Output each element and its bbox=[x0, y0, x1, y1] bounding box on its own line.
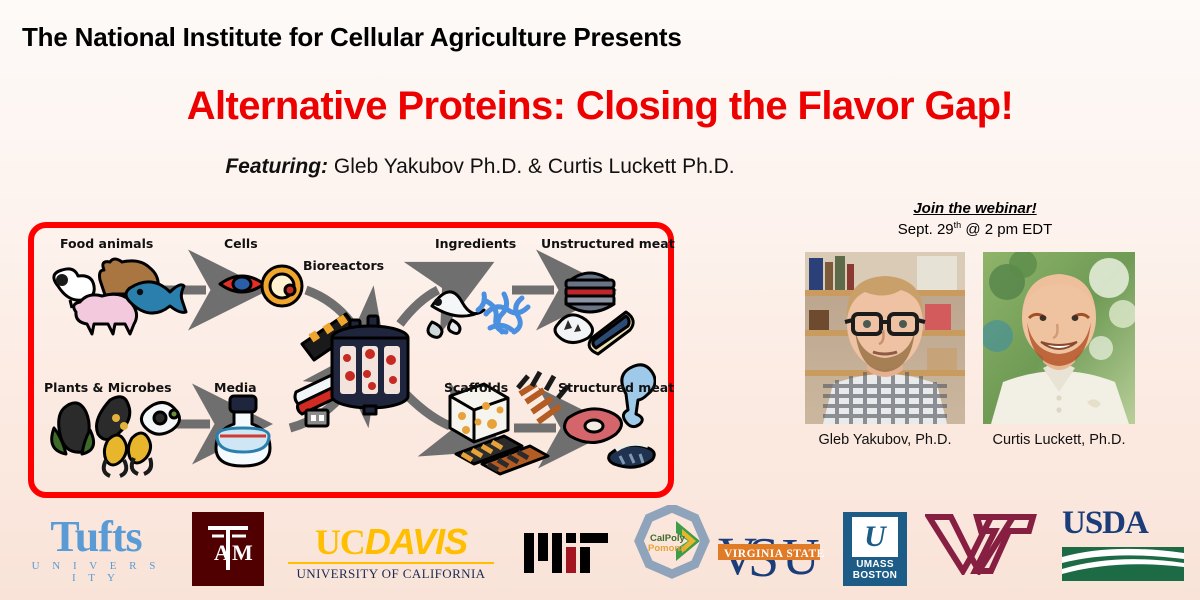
logo-virginia-state: V S U VIRGINIA STATE bbox=[716, 522, 826, 582]
logo-texas-am: A M bbox=[192, 512, 264, 586]
logo-tufts: Tufts U N I V E R S I T Y bbox=[26, 516, 166, 584]
logo-tufts-subtext: U N I V E R S I T Y bbox=[26, 560, 166, 584]
logo-uc-text: UC bbox=[315, 522, 365, 562]
avatar bbox=[805, 252, 965, 424]
svg-text:A: A bbox=[214, 540, 230, 565]
page-title: Alternative Proteins: Closing the Flavor… bbox=[0, 84, 1200, 129]
logo-virginia-tech bbox=[925, 513, 1037, 580]
texas-am-icon: A M bbox=[200, 520, 256, 578]
logo-tufts-wordmark: Tufts bbox=[26, 516, 166, 558]
logo-uc-davis-wordmark: UCDAVIS bbox=[288, 524, 494, 560]
avatar bbox=[983, 252, 1135, 424]
umass-line1: UMASS bbox=[856, 559, 894, 570]
webinar-poster: The National Institute for Cellular Agri… bbox=[0, 0, 1200, 600]
webinar-date: Sept. 29 bbox=[898, 221, 954, 238]
usda-field-icon bbox=[1062, 541, 1184, 581]
diagram-label-food-animals: Food animals bbox=[60, 236, 153, 251]
logo-uc-davis: UCDAVIS UNIVERSITY OF CALIFORNIA bbox=[288, 524, 494, 582]
webinar-datetime: Sept. 29th @ 2 pm EDT bbox=[810, 220, 1140, 238]
speaker-card-2: Curtis Luckett, Ph.D. bbox=[983, 252, 1135, 448]
webinar-info: Join the webinar! Sept. 29th @ 2 pm EDT bbox=[810, 200, 1140, 238]
protein-icon bbox=[478, 294, 528, 332]
diagram-label-unstructured-meat: Unstructured meat bbox=[541, 236, 675, 251]
logo-usda-wordmark: USDA bbox=[1062, 507, 1184, 540]
sponsor-logo-bar: Tufts U N I V E R S I T Y A M UCDAVIS UN… bbox=[0, 500, 1200, 600]
umass-line2: BOSTON bbox=[853, 570, 897, 581]
cellular-agriculture-diagram: Food animals Cells Bioreactors Ingredien… bbox=[28, 222, 674, 498]
umass-boston-mark-icon: U bbox=[852, 517, 898, 557]
svg-text:VIRGINIA STATE: VIRGINIA STATE bbox=[724, 548, 825, 560]
cal-poly-pomona-icon: CalPoly Pomona bbox=[632, 505, 712, 581]
logo-usda: USDA bbox=[1062, 507, 1184, 586]
logo-umass-boston: U UMASSBOSTON bbox=[843, 512, 907, 586]
join-webinar-label[interactable]: Join the webinar! bbox=[810, 200, 1140, 217]
diagram-label-cells: Cells bbox=[224, 236, 258, 251]
logo-uc-davis-rule bbox=[288, 562, 494, 564]
featuring-line: Featuring: Gleb Yakubov Ph.D. & Curtis L… bbox=[0, 155, 1200, 179]
featuring-label: Featuring: bbox=[225, 155, 328, 178]
diagram-label-ingredients: Ingredients bbox=[435, 236, 516, 251]
headshot-gleb-yakubov-icon bbox=[805, 252, 965, 424]
speaker-gallery: Gleb Yakubov, Ph.D. bbox=[805, 252, 1155, 448]
virginia-state-icon: V S U VIRGINIA STATE bbox=[716, 522, 826, 584]
presents-line: The National Institute for Cellular Agri… bbox=[22, 22, 682, 53]
logo-cal-poly-pomona: CalPoly Pomona bbox=[632, 505, 712, 586]
speaker-name: Curtis Luckett, Ph.D. bbox=[983, 432, 1135, 448]
virginia-tech-icon bbox=[925, 513, 1037, 575]
mit-icon bbox=[524, 529, 608, 573]
speaker-card-1: Gleb Yakubov, Ph.D. bbox=[805, 252, 965, 448]
logo-uc-davis-subtext: UNIVERSITY OF CALIFORNIA bbox=[288, 566, 494, 582]
umass-boston-text: UMASSBOSTON bbox=[853, 560, 897, 581]
diagram-label-bioreactors: Bioreactors bbox=[303, 258, 384, 273]
cpp-line2: Pomona bbox=[648, 543, 686, 554]
logo-davis-text: DAVIS bbox=[365, 521, 467, 562]
headshot-curtis-luckett-icon bbox=[983, 252, 1135, 424]
diagram-label-media: Media bbox=[214, 380, 257, 395]
diagram-label-scaffolds: Scaffolds bbox=[444, 380, 508, 395]
diagram-label-plants-microbes: Plants & Microbes bbox=[44, 380, 172, 395]
speaker-name: Gleb Yakubov, Ph.D. bbox=[805, 432, 965, 448]
webinar-time: @ 2 pm EDT bbox=[961, 221, 1052, 238]
diagram-label-structured-meat: Structured meat bbox=[558, 380, 674, 395]
svg-text:M: M bbox=[232, 540, 253, 565]
logo-mit bbox=[524, 529, 608, 578]
featuring-names: Gleb Yakubov Ph.D. & Curtis Luckett Ph.D… bbox=[334, 155, 735, 178]
